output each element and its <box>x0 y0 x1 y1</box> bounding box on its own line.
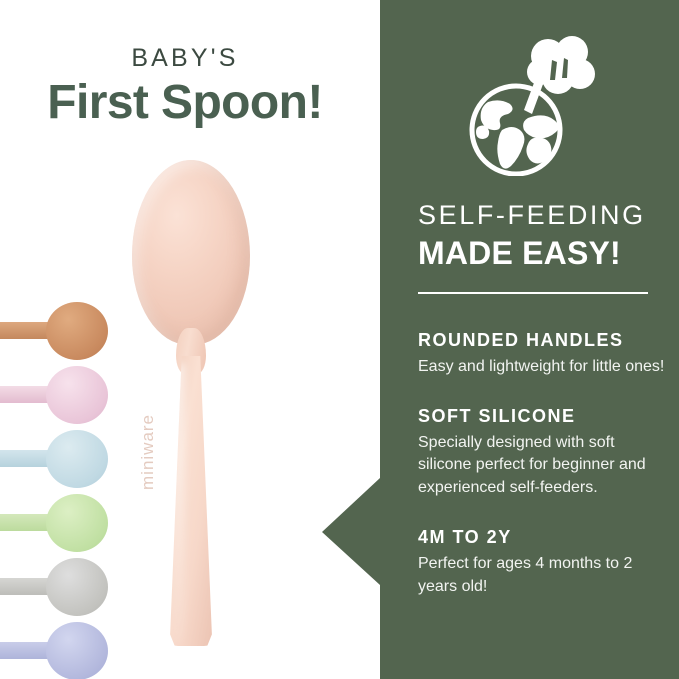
title-divider <box>418 292 648 294</box>
feature-title: 4M TO 2Y <box>418 527 668 548</box>
swatch-spoon-tan <box>0 300 108 362</box>
feature-body: Easy and lightweight for little ones! <box>418 356 668 379</box>
product-infographic: BABY'S First Spoon! <box>0 0 679 679</box>
swatch-bowl <box>46 494 108 552</box>
swatch-bowl <box>46 302 108 360</box>
feature-body: Specially designed with soft silicone pe… <box>418 432 668 500</box>
swatch-spoon-pink <box>0 364 108 426</box>
main-spoon-image: miniware <box>126 160 256 650</box>
swatch-bowl <box>46 366 108 424</box>
eyebrow-text: BABY'S <box>0 44 370 73</box>
left-panel: BABY'S First Spoon! <box>0 0 380 679</box>
globe-broccoli-icon <box>460 26 600 176</box>
feature-list: ROUNDED HANDLES Easy and lightweight for… <box>418 330 668 625</box>
spoon-brand-emboss: miniware <box>138 370 158 490</box>
feature-body: Perfect for ages 4 months to 2 years old… <box>418 553 668 598</box>
swatch-bowl <box>46 558 108 616</box>
spoon-handle <box>162 356 220 646</box>
feature-item: 4M TO 2Y Perfect for ages 4 months to 2 … <box>418 527 668 598</box>
swatch-spoon-periwinkle <box>0 620 108 679</box>
swatch-spoon-grey <box>0 556 108 618</box>
swatch-spoon-green <box>0 492 108 554</box>
spoon-bowl <box>132 160 250 345</box>
swatch-bowl <box>46 430 108 488</box>
feature-title: SOFT SILICONE <box>418 406 668 427</box>
swatch-bowl <box>46 622 108 679</box>
feature-title: ROUNDED HANDLES <box>418 330 668 351</box>
color-swatch-strip <box>0 300 108 660</box>
feature-item: ROUNDED HANDLES Easy and lightweight for… <box>418 330 668 379</box>
swatch-spoon-blue <box>0 428 108 490</box>
panel-subtitle: SELF-FEEDING <box>418 200 668 231</box>
feature-item: SOFT SILICONE Specially designed with so… <box>418 406 668 500</box>
panel-title: MADE EASY! <box>418 235 678 272</box>
page-title: First Spoon! <box>0 75 370 130</box>
